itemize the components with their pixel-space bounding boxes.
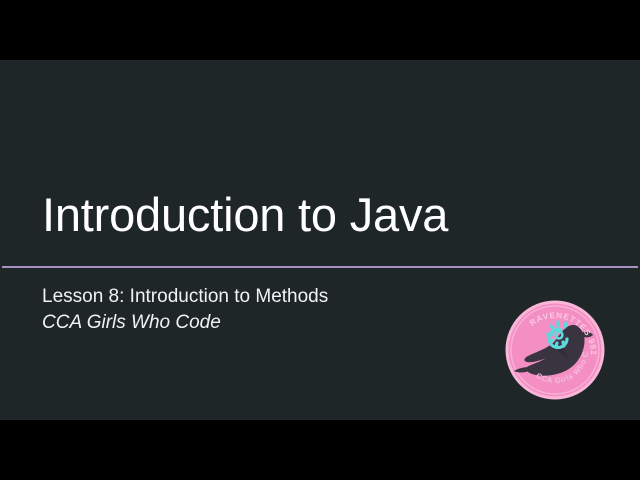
subtitle-organization: CCA Girls Who Code xyxy=(42,310,328,336)
raven-badge-icon: RAVENETTES 9827 CCA Girls Who Code xyxy=(505,300,605,400)
presentation-slide: Introduction to Java Lesson 8: Introduct… xyxy=(0,60,640,420)
subtitle-block: Lesson 8: Introduction to Methods CCA Gi… xyxy=(42,284,328,336)
letterbox-bar-top xyxy=(0,0,640,60)
organization-logo: RAVENETTES 9827 CCA Girls Who Code xyxy=(505,300,605,400)
video-frame: Introduction to Java Lesson 8: Introduct… xyxy=(0,0,640,480)
page-title: Introduction to Java xyxy=(42,191,448,238)
subtitle-lesson: Lesson 8: Introduction to Methods xyxy=(42,284,328,310)
letterbox-bar-bottom xyxy=(0,420,640,480)
title-divider xyxy=(2,266,638,268)
